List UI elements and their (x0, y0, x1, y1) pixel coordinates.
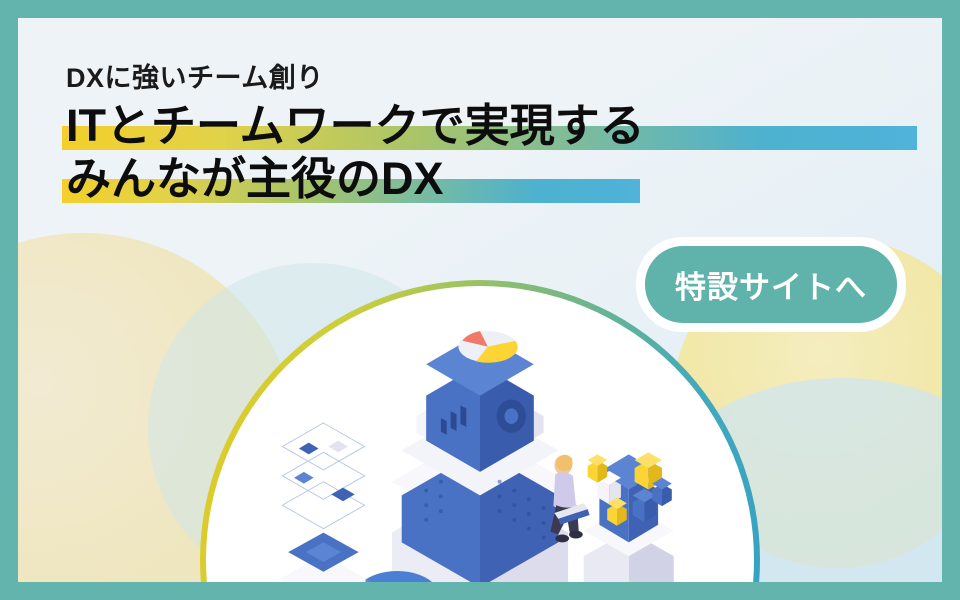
eyebrow-text: DXに強いチーム創り (66, 56, 645, 95)
headline-block: DXに強いチーム創り ITとチームワークで実現する みんなが主役のDX (62, 56, 645, 205)
headline-line-2: みんなが主役のDX (62, 152, 645, 205)
server-rack-stack (279, 533, 367, 582)
cta-button-label[interactable]: 特設サイトへ (645, 246, 897, 323)
network-node-cubes (294, 441, 355, 502)
cta-button[interactable]: 特設サイトへ (636, 237, 906, 332)
network-nodes-left (282, 423, 364, 529)
banner-inner-panel: DXに強いチーム創り ITとチームワークで実現する みんなが主役のDX 特設サイ… (18, 18, 942, 582)
dx-promo-banner: DXに強いチーム創り ITとチームワークで実現する みんなが主役のDX 特設サイ… (0, 0, 960, 600)
seated-woman-laptop (550, 455, 589, 543)
main-headline: ITとチームワークで実現する みんなが主役のDX (62, 99, 645, 205)
headline-line-1: ITとチームワークで実現する (62, 99, 645, 152)
